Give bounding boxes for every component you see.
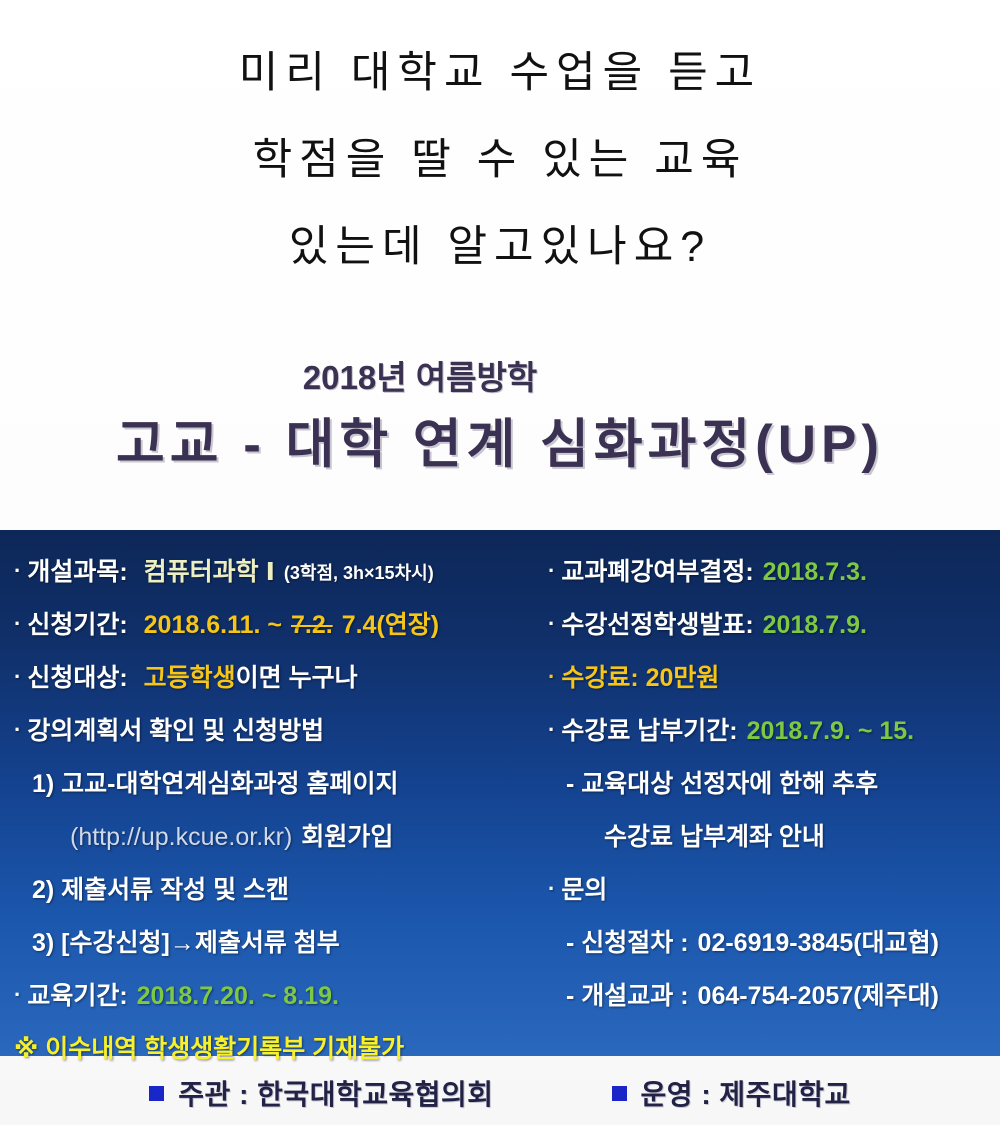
selection-announcement-value: 2018.7.9. [763, 613, 867, 638]
howto-step-1-text: 1) 고교-대학연계심화과정 홈페이지 [32, 772, 398, 797]
contact-course-org: (제주대) [853, 984, 939, 1009]
payment-period-label: 수강료 납부기간: [561, 719, 737, 744]
program-subtitle: 2018년 여름방학 [0, 360, 1000, 396]
row-howto-step-2: 2) 제출서류 작성 및 스캔 [14, 864, 540, 917]
bullet-icon: · [14, 613, 21, 635]
course-name-label: 개설과목: [27, 560, 127, 585]
eligibility-highlight: 고등학생 [144, 666, 236, 691]
headline-line-1: 미리 대학교 수업을 듣고 [0, 52, 1000, 95]
row-howto-url: (http://up.kcue.or.kr) 회원가입 [14, 811, 540, 864]
square-bullet-icon [612, 1086, 627, 1101]
headline-line-2: 학점을 딸 수 있는 교육 [0, 139, 1000, 182]
selection-announcement-label: 수강선정학생발표: [561, 613, 753, 638]
row-contact-course: - 개설교과 : 064-754-2057 (제주대) [548, 970, 1000, 1023]
row-payment-note-1: - 교육대상 선정자에 한해 추후 [548, 758, 1000, 811]
row-payment-note-2: 수강료 납부계좌 안내 [548, 811, 1000, 864]
education-period-value: 2018.7.20. ~ 8.19. [137, 984, 339, 1009]
title-block: 2018년 여름방학 고교 - 대학 연계 심화과정(UP) [0, 360, 1000, 479]
contact-application-label: - 신청절차 : [566, 931, 689, 956]
contact-application-phone[interactable]: 02-6919-3845 [698, 931, 854, 956]
course-credit-note: (3학점, 3h×15차시) [284, 564, 434, 582]
row-howto-heading: · 강의계획서 확인 및 신청방법 [14, 705, 540, 758]
howto-step-3-text: 3) [수강신청]→제출서류 첨부 [32, 931, 340, 956]
bullet-icon: · [548, 878, 555, 900]
howto-step-2-text: 2) 제출서류 작성 및 스캔 [32, 878, 289, 903]
contact-application-org: (대교협) [853, 931, 939, 956]
bullet-icon: · [548, 560, 555, 582]
bullet-icon: · [548, 613, 555, 635]
footer-host: 주관 : 한국대학교육협의회 [149, 1073, 493, 1113]
howto-url-suffix: 회원가입 [301, 825, 393, 850]
education-period-label: 교육기간: [27, 984, 127, 1009]
bullet-icon: · [14, 666, 21, 688]
footer-operator: 운영 : 제주대학교 [612, 1073, 851, 1113]
contact-course-label: - 개설교과 : [566, 984, 689, 1009]
tuition-fee-text: 수강료: 20만원 [561, 666, 719, 691]
row-howto-step-1: 1) 고교-대학연계심화과정 홈페이지 [14, 758, 540, 811]
row-course-name: · 개설과목: 컴퓨터과학 Ⅰ (3학점, 3h×15차시) [14, 546, 540, 599]
info-column-left: · 개설과목: 컴퓨터과학 Ⅰ (3학점, 3h×15차시) · 신청기간: 2… [0, 530, 540, 1056]
application-period-label: 신청기간: [27, 613, 127, 638]
info-column-right: · 교과폐강여부결정: 2018.7.3. · 수강선정학생발표: 2018.7… [540, 530, 1000, 1056]
application-period-struck-date: 7.2. [291, 613, 333, 638]
howto-heading-label: 강의계획서 확인 및 신청방법 [27, 719, 324, 744]
headline-block: 미리 대학교 수업을 듣고 학점을 딸 수 있는 교육 있는데 알고있나요? [0, 52, 1000, 269]
eligibility-label: 신청대상: [27, 666, 127, 691]
bullet-icon: · [14, 984, 21, 1006]
row-cancellation-decision: · 교과폐강여부결정: 2018.7.3. [548, 546, 1000, 599]
application-period-extended-date: 7.4(연장) [342, 613, 439, 638]
cancellation-decision-label: 교과폐강여부결정: [561, 560, 753, 585]
footer-host-label: 주관 : 한국대학교육협의회 [178, 1073, 493, 1113]
footer-operator-label: 운영 : 제주대학교 [641, 1073, 851, 1113]
page-title: 고교 - 대학 연계 심화과정(UP) [0, 412, 1000, 478]
row-tuition-fee: · 수강료: 20만원 [548, 652, 1000, 705]
program-website-url[interactable]: (http://up.kcue.or.kr) [70, 825, 292, 850]
row-contact-application: - 신청절차 : 02-6919-3845 (대교협) [548, 917, 1000, 970]
row-eligibility: · 신청대상: 고등학생 이면 누구나 [14, 652, 540, 705]
row-howto-step-3: 3) [수강신청]→제출서류 첨부 [14, 917, 540, 970]
contact-heading-label: 문의 [561, 878, 607, 903]
warning-note-text: ※ 이수내역 학생생활기록부 기재불가 [14, 1037, 404, 1062]
bullet-icon: · [548, 666, 555, 688]
footer-block: 주관 : 한국대학교육협의회 운영 : 제주대학교 [0, 1060, 1000, 1125]
row-payment-period: · 수강료 납부기간: 2018.7.9. ~ 15. [548, 705, 1000, 758]
payment-note-2-text: 수강료 납부계좌 안내 [604, 825, 825, 850]
bullet-icon: · [14, 719, 21, 741]
row-contact-heading: · 문의 [548, 864, 1000, 917]
course-name-value: 컴퓨터과학 Ⅰ [144, 560, 275, 585]
application-period-start: 2018.6.11. ~ [144, 613, 282, 638]
payment-period-value: 2018.7.9. ~ 15. [747, 719, 915, 744]
headline-line-3: 있는데 알고있나요? [0, 226, 1000, 269]
bullet-icon: · [14, 560, 21, 582]
info-panel: · 개설과목: 컴퓨터과학 Ⅰ (3학점, 3h×15차시) · 신청기간: 2… [0, 530, 1000, 1056]
eligibility-rest: 이면 누구나 [236, 666, 358, 691]
bullet-icon: · [548, 719, 555, 741]
payment-note-1-text: - 교육대상 선정자에 한해 추후 [566, 772, 878, 797]
row-application-period: · 신청기간: 2018.6.11. ~ 7.2. 7.4(연장) [14, 599, 540, 652]
poster-root: 미리 대학교 수업을 듣고 학점을 딸 수 있는 교육 있는데 알고있나요? 2… [0, 0, 1000, 1125]
contact-course-phone[interactable]: 064-754-2057 [698, 984, 854, 1009]
square-bullet-icon [149, 1086, 164, 1101]
row-education-period: · 교육기간: 2018.7.20. ~ 8.19. [14, 970, 540, 1023]
cancellation-decision-value: 2018.7.3. [763, 560, 867, 585]
row-selection-announcement: · 수강선정학생발표: 2018.7.9. [548, 599, 1000, 652]
